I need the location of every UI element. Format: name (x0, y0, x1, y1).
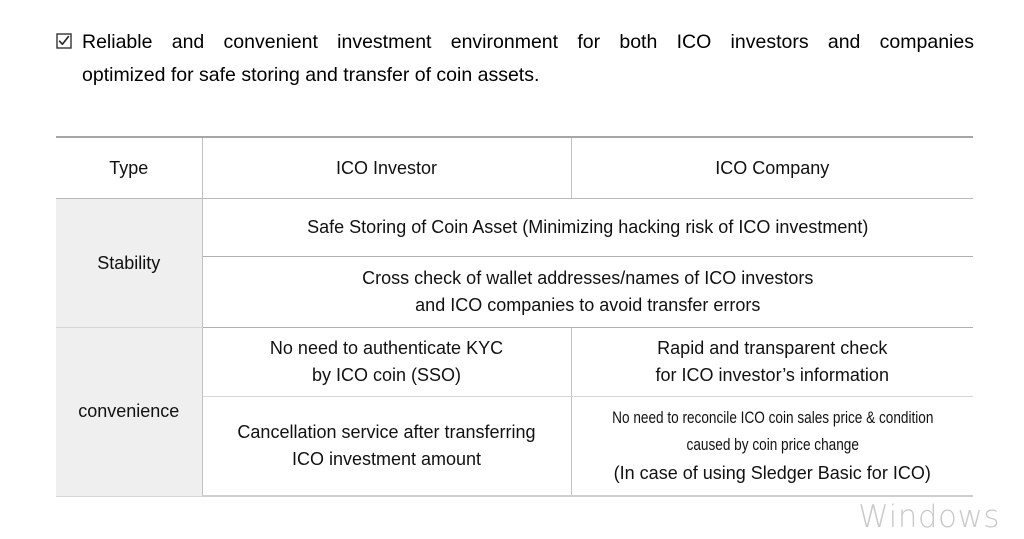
cell-convenience-company-reconcile: No need to reconcile ICO coin sales pric… (571, 397, 973, 497)
cell-line: by ICO coin (SSO) (312, 365, 461, 385)
cell-line: Cross check of wallet addresses/names of… (362, 268, 813, 288)
cell-line: caused by coin price change (612, 431, 933, 458)
windows-watermark: Windows (858, 502, 1000, 533)
checkbox-checked-icon (56, 33, 72, 49)
cell-stability-safe-storing: Safe Storing of Coin Asset (Minimizing h… (202, 199, 973, 257)
intro-paragraph: Reliable and convenient investment envir… (82, 26, 974, 92)
header-cell-ico-company: ICO Company (571, 137, 973, 199)
row-label-stability: Stability (56, 199, 202, 328)
cell-convenience-company-rapid-check: Rapid and transparent check for ICO inve… (571, 328, 973, 397)
cell-line: (In case of using Sledger Basic for ICO) (572, 458, 974, 488)
cell-line: for ICO investor’s information (656, 365, 889, 385)
ico-comparison-table: Type ICO Investor ICO Company Stability … (56, 136, 973, 497)
table-row: convenience No need to authenticate KYC … (56, 328, 973, 397)
header-cell-type: Type (56, 137, 202, 199)
row-label-convenience: convenience (56, 328, 202, 497)
cell-convenience-investor-cancellation: Cancellation service after transferring … (202, 397, 571, 497)
header-cell-ico-investor: ICO Investor (202, 137, 571, 199)
comparison-table-wrapper: Type ICO Investor ICO Company Stability … (56, 136, 973, 497)
intro-bullet: Reliable and convenient investment envir… (56, 26, 974, 92)
cell-line: and ICO companies to avoid transfer erro… (415, 295, 760, 315)
cell-convenience-investor-kyc: No need to authenticate KYC by ICO coin … (202, 328, 571, 397)
intro-line-2: optimized for safe storing and transfer … (82, 59, 974, 92)
table-row: Stability Safe Storing of Coin Asset (Mi… (56, 199, 973, 257)
table-header-row: Type ICO Investor ICO Company (56, 137, 973, 199)
cell-line: No need to reconcile ICO coin sales pric… (612, 404, 933, 431)
cell-line: Cancellation service after transferring (237, 422, 535, 442)
cell-stability-cross-check: Cross check of wallet addresses/names of… (202, 257, 973, 328)
cell-line: No need to authenticate KYC (270, 338, 503, 358)
cell-line: Rapid and transparent check (657, 338, 887, 358)
cell-line: ICO investment amount (292, 449, 481, 469)
intro-line-1: Reliable and convenient investment envir… (82, 26, 974, 59)
